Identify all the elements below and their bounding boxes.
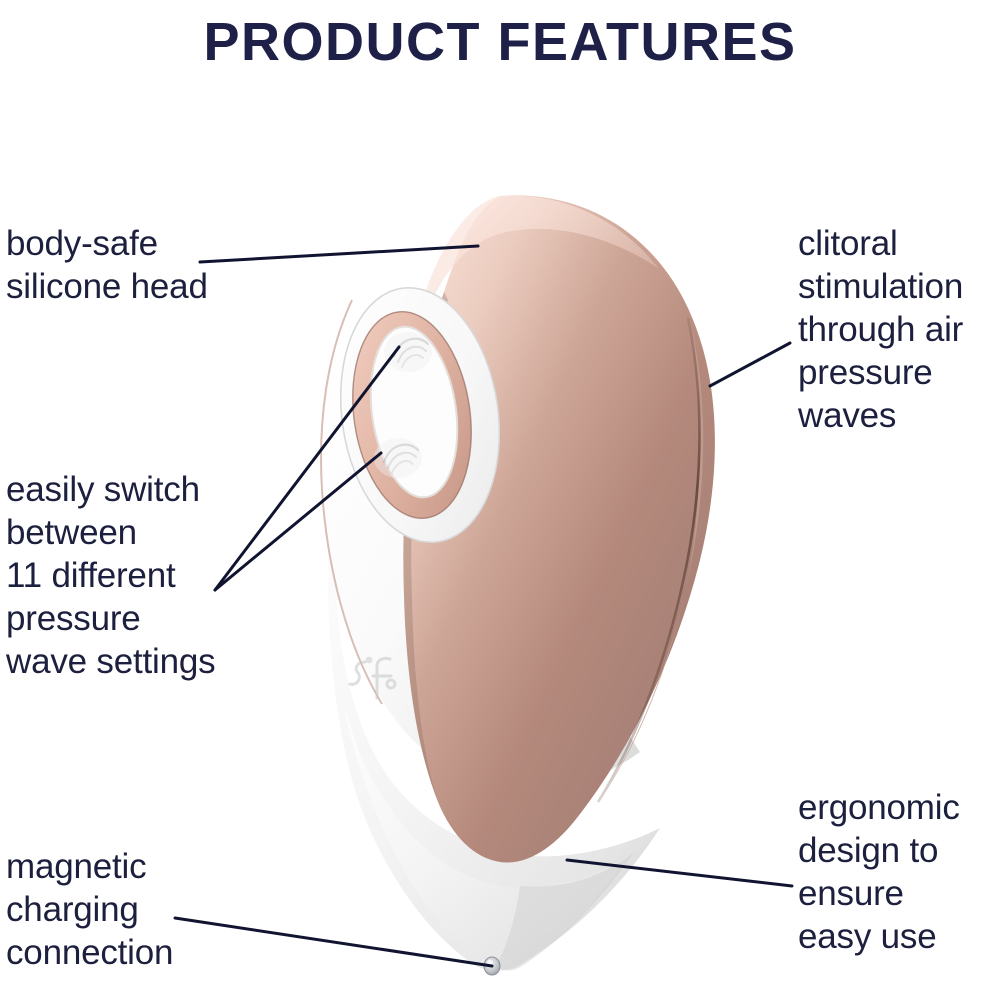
callout-ergonomic: ergonomic design to ensure easy use: [798, 786, 1000, 958]
infographic-page: PRODUCT FEATURES: [0, 0, 1000, 1000]
intensity-down-button[interactable]: [374, 438, 422, 478]
intensity-up-button[interactable]: [384, 332, 432, 372]
brand-logo-sf: [345, 650, 415, 708]
callout-clitoral: clitoral stimulation through air pressur…: [798, 222, 1000, 437]
leader-line-clitoral: [710, 343, 790, 386]
callout-body-safe: body-safe silicone head: [6, 222, 306, 308]
callout-magnetic: magnetic charging connection: [6, 845, 306, 974]
product-body: [321, 195, 715, 975]
callout-settings: easily switch between 11 different press…: [6, 468, 306, 683]
